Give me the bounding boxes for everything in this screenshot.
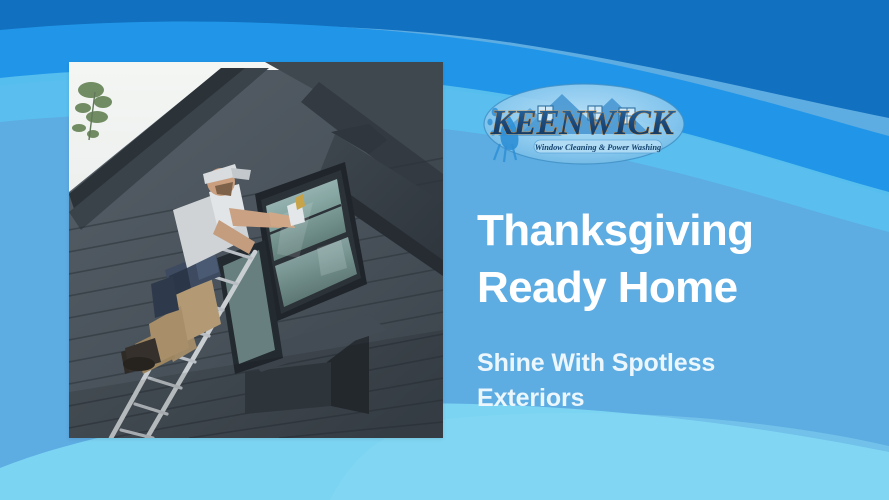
promo-banner: KEENWICK Window Cleaning & Power Washing… (0, 0, 889, 500)
logo-artwork: KEENWICK Window Cleaning & Power Washing (478, 78, 690, 170)
content-column: KEENWICK Window Cleaning & Power Washing… (477, 78, 872, 417)
subheadline-line-2: Exteriors (477, 381, 807, 417)
headline-line-1: Thanksgiving (477, 202, 837, 259)
logo-tagline-text: Window Cleaning & Power Washing (535, 143, 661, 152)
subheadline-line-1: Shine With Spotless (477, 346, 807, 382)
headline: Thanksgiving Ready Home (477, 202, 837, 316)
window-cleaning-photo (69, 62, 443, 438)
logo-brand-text: KEENWICK (490, 103, 677, 142)
hero-photo (69, 62, 443, 438)
headline-line-2: Ready Home (477, 259, 837, 316)
subheadline: Shine With Spotless Exteriors (477, 346, 807, 417)
keenwick-logo[interactable]: KEENWICK Window Cleaning & Power Washing (478, 78, 690, 170)
